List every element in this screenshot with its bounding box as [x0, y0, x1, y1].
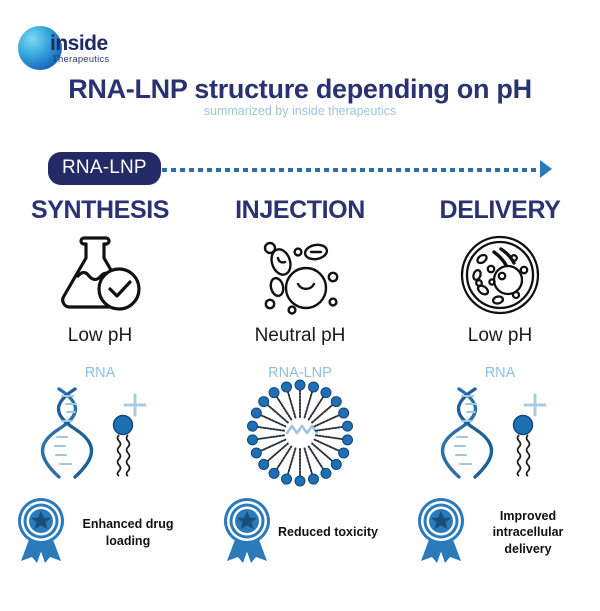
- cell-nucleus-icon: [454, 229, 546, 321]
- brand-tagline: Therapeutics: [52, 54, 109, 65]
- molecule-label: RNA: [485, 365, 516, 383]
- award-ribbon-icon: [416, 497, 466, 568]
- ph-label: Low pH: [68, 325, 132, 347]
- arrow-head-icon: [540, 160, 552, 178]
- award-ribbon-icon: [16, 497, 66, 568]
- blood-cells-icon: [254, 229, 346, 321]
- benefit-label: Reduced toxicity: [278, 524, 378, 540]
- flow-badge: RNA-LNP: [48, 152, 161, 185]
- page-subtitle: summarized by inside therapeutics: [0, 104, 600, 118]
- benefit-item: Improved intracellular delivery: [400, 497, 600, 568]
- column-title: SYNTHESIS: [31, 196, 169, 225]
- award-ribbon-icon: [222, 497, 272, 568]
- brand-logo: inside Therapeutics: [18, 24, 208, 74]
- column-title: INJECTION: [235, 196, 365, 225]
- benefit-item: Enhanced drug loading: [0, 497, 200, 568]
- benefit-label: Improved intracellular delivery: [472, 508, 584, 557]
- page-title: RNA-LNP structure depending on pH: [0, 74, 600, 105]
- brand-name: inside: [50, 32, 108, 56]
- column-injection: INJECTION N: [200, 196, 400, 481]
- dotted-arrow-right-icon: [162, 168, 544, 172]
- ph-label: Low pH: [468, 325, 532, 347]
- stage-columns: SYNTHESIS Low pH RNA: [0, 196, 600, 481]
- benefits-row: Enhanced drug loading Reduced toxicity: [0, 497, 600, 568]
- molecule-label: RNA: [85, 365, 116, 383]
- flask-check-icon: [54, 229, 146, 321]
- lipid-nanoparticle-icon: [241, 385, 359, 481]
- benefit-label: Enhanced drug loading: [72, 516, 184, 549]
- ph-label: Neutral pH: [255, 325, 346, 347]
- column-delivery: DELIVERY: [400, 196, 600, 481]
- rna-helix-plus-lipid-icon: [435, 385, 565, 481]
- column-synthesis: SYNTHESIS Low pH RNA: [0, 196, 200, 481]
- column-title: DELIVERY: [440, 196, 561, 225]
- benefit-item: Reduced toxicity: [200, 497, 400, 568]
- rna-helix-plus-lipid-icon: [35, 385, 165, 481]
